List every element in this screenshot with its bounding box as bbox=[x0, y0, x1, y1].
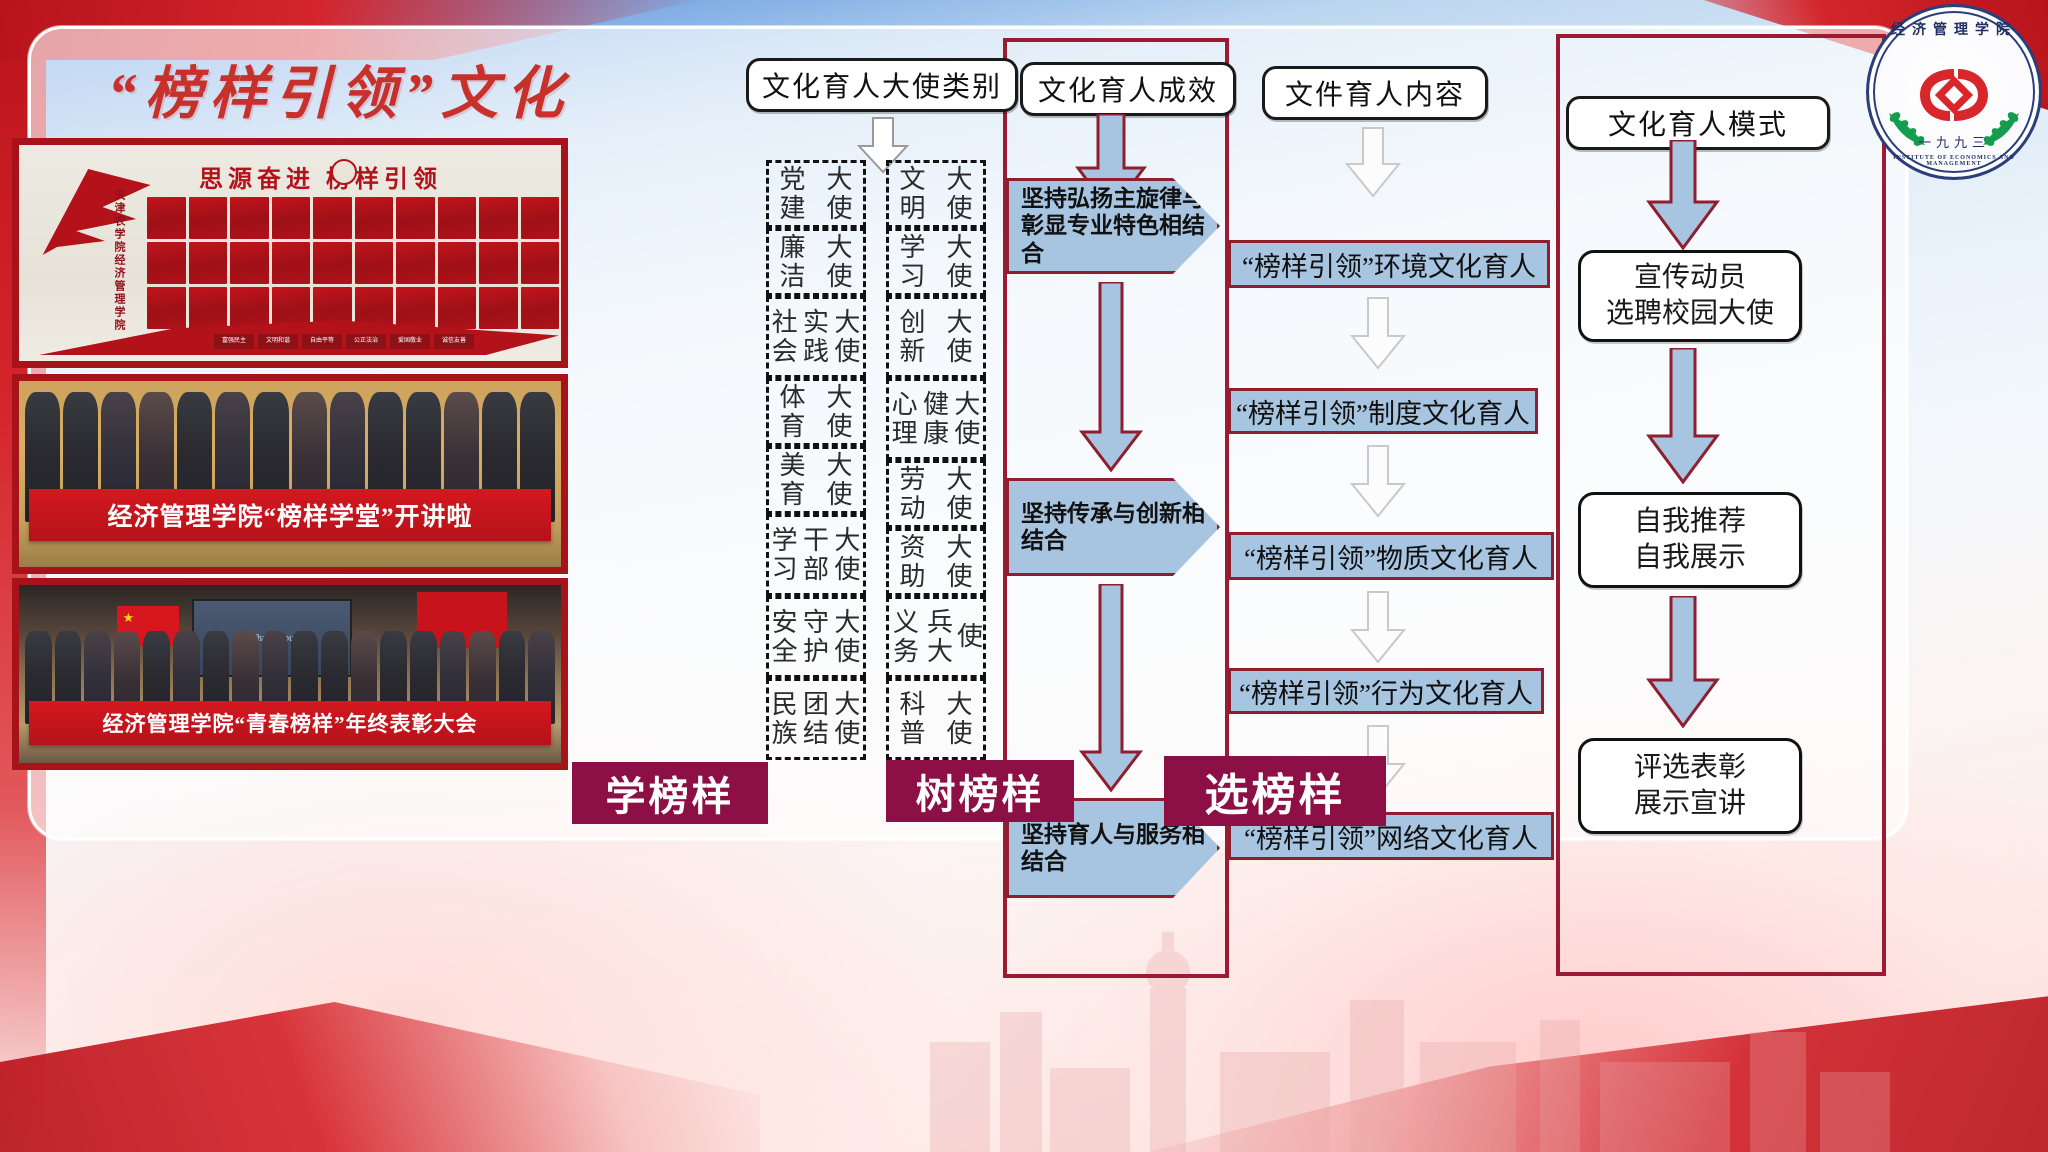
value-chip: 富强民主 bbox=[214, 334, 254, 349]
value-chip: 诚信友善 bbox=[434, 334, 474, 349]
role-model-card-grid bbox=[147, 197, 559, 329]
down-arrow-outline-icon bbox=[1343, 126, 1403, 198]
bottom-tag-select[interactable]: 选榜样 bbox=[1164, 756, 1386, 826]
ambassador-cell-13: 劳动大使 bbox=[886, 460, 986, 528]
ambassador-cell-16: 科普大使 bbox=[886, 678, 986, 760]
photo-annual-award-ceremony: Thank you 经济管理学院“青春榜样”年终表彰大会 bbox=[12, 578, 568, 770]
down-arrow-blue-icon bbox=[1078, 584, 1144, 792]
column-header-ambassadors: 文化育人大使类别 bbox=[746, 58, 1018, 112]
ambassador-cell-12: 心理健康大使 bbox=[886, 378, 986, 460]
logo-english-name: INSTITUTE OF ECONOMICS AND MANAGEMENT bbox=[1869, 155, 2039, 167]
down-arrow-outline-icon bbox=[1348, 296, 1408, 370]
ambassador-cell-6: 学习干部大使 bbox=[766, 514, 866, 596]
ambassador-cell-1: 党建大使 bbox=[766, 160, 866, 228]
mode-step-box-3: 评选表彰展示宣讲 bbox=[1578, 738, 1802, 834]
column-header-effects: 文化育人成效 bbox=[1020, 62, 1236, 116]
logo-founding-year: 一九九三 bbox=[1869, 132, 2039, 151]
bottom-tag-learn[interactable]: 学榜样 bbox=[572, 762, 768, 824]
ambassador-cell-8: 民族团结大使 bbox=[766, 678, 866, 760]
content-box-3: “榜样引领”物质文化育人 bbox=[1228, 532, 1554, 580]
poster-canvas: “榜样引领”文化 天津农学院经济管理学院 思源奋进 榜样引领 富强民主 文明和谐… bbox=[0, 0, 2048, 1152]
down-arrow-outline-icon bbox=[1348, 444, 1408, 518]
page-title: “榜样引领”文化 bbox=[108, 48, 571, 130]
school-badge-icon bbox=[331, 159, 357, 185]
value-chip: 公正法治 bbox=[346, 334, 386, 349]
ambassador-cell-14: 资助大使 bbox=[886, 528, 986, 596]
mode-step-box-1: 宣传动员选聘校园大使 bbox=[1578, 250, 1802, 342]
ambassador-cell-5: 美育大使 bbox=[766, 446, 866, 514]
down-arrow-blue-icon bbox=[1078, 282, 1144, 472]
bird-decoration bbox=[33, 163, 153, 263]
down-arrow-blue-icon bbox=[1645, 596, 1721, 728]
photo-wall-of-role-models: 天津农学院经济管理学院 思源奋进 榜样引领 富强民主 文明和谐 自由平等 公正法… bbox=[12, 138, 568, 368]
down-arrow-outline-icon bbox=[1348, 590, 1408, 664]
down-arrow-blue-icon bbox=[1645, 140, 1721, 250]
ambassador-cell-10: 学习大使 bbox=[886, 228, 986, 296]
bottom-tag-establish[interactable]: 树榜样 bbox=[886, 760, 1074, 822]
ambassador-cell-9: 文明大使 bbox=[886, 160, 986, 228]
photo-banner-text: 经济管理学院“青春榜样”年终表彰大会 bbox=[29, 701, 551, 745]
mode-step-box-2: 自我推荐自我展示 bbox=[1578, 492, 1802, 588]
value-chip: 爱国敬业 bbox=[390, 334, 430, 349]
photo-banner-text: 经济管理学院“榜样学堂”开讲啦 bbox=[29, 489, 551, 541]
ambassador-cell-2: 廉洁大使 bbox=[766, 228, 866, 296]
content-box-4: “榜样引领”行为文化育人 bbox=[1228, 668, 1544, 714]
ambassador-cell-11: 创新大使 bbox=[886, 296, 986, 378]
wall-vertical-text: 天津农学院经济管理学院 bbox=[111, 189, 127, 332]
core-values-chips: 富强民主 文明和谐 自由平等 公正法治 爱国敬业 诚信友善 bbox=[214, 334, 474, 349]
photo-role-model-classroom: 经济管理学院“榜样学堂”开讲啦 bbox=[12, 374, 568, 574]
ambassador-cell-15: 义务兵大使 bbox=[886, 596, 986, 678]
content-box-1: “榜样引领”环境文化育人 bbox=[1228, 240, 1550, 288]
school-logo: 经济管理学院 一九九三 INSTITUTE O bbox=[1866, 4, 2042, 180]
ambassador-cell-7: 安全守护大使 bbox=[766, 596, 866, 678]
bottom-left-red-ribbon bbox=[0, 1002, 760, 1152]
value-chip: 文明和谐 bbox=[258, 334, 298, 349]
column-header-contents: 文件育人内容 bbox=[1262, 66, 1488, 120]
ambassador-cell-4: 体育大使 bbox=[766, 378, 866, 446]
down-arrow-blue-icon bbox=[1645, 348, 1721, 484]
value-chip: 自由平等 bbox=[302, 334, 342, 349]
content-box-2: “榜样引领”制度文化育人 bbox=[1228, 388, 1538, 434]
ambassador-cell-3: 社会实践大使 bbox=[766, 296, 866, 378]
logo-school-name: 经济管理学院 bbox=[1869, 19, 2039, 39]
wall-headline: 思源奋进 榜样引领 bbox=[199, 159, 442, 194]
